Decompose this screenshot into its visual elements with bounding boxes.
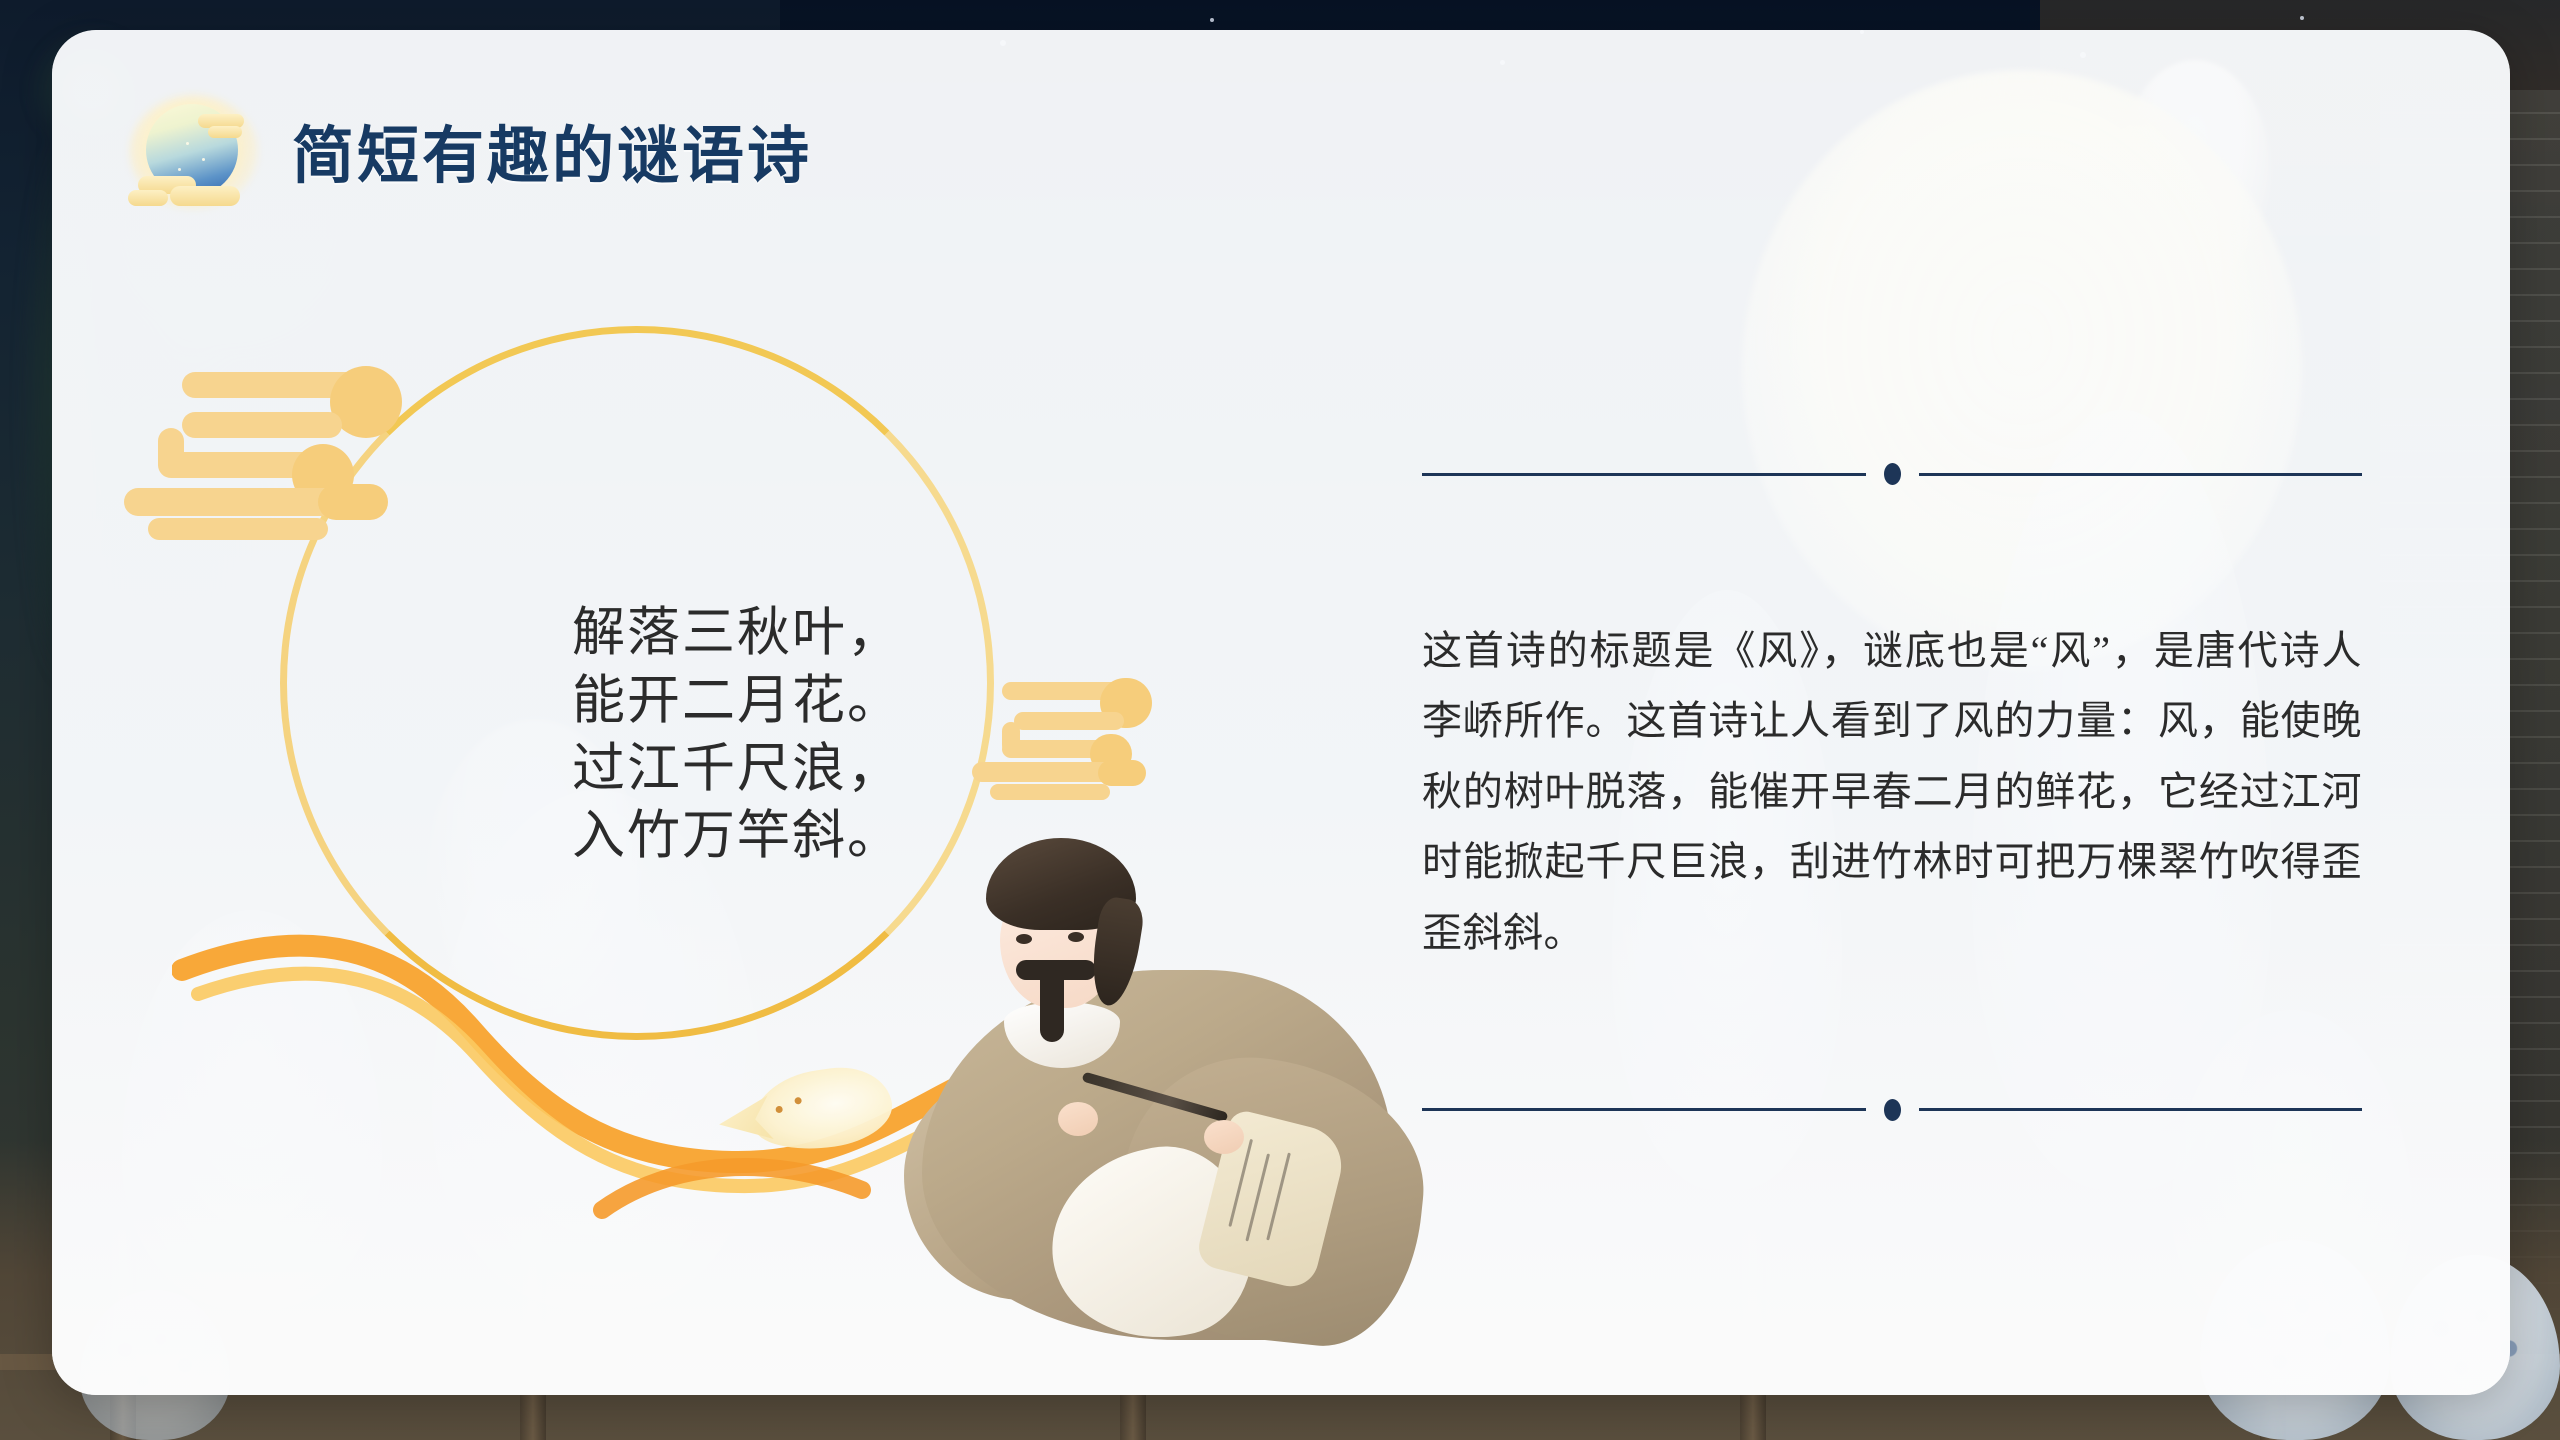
divider-line-right [1919, 1108, 2363, 1111]
slide-card: 解落三秋叶， 能开二月花。 过江千尺浪， 入竹万竿斜。 [52, 30, 2510, 1395]
tang-poet-illustration [912, 820, 1432, 1350]
explanation-text: 这首诗的标题是《风》，谜底也是“风”，是唐代诗人李峤所作。这首诗让人看到了风的力… [1422, 616, 2362, 968]
divider-top [1422, 460, 2362, 488]
divider-line-left [1422, 473, 1866, 476]
divider-line-left [1422, 1108, 1866, 1111]
moon-cloud-icon [124, 90, 264, 210]
divider-bottom [1422, 1096, 2362, 1124]
poet-beard [1040, 970, 1064, 1042]
poem-line-2: 能开二月花。 [572, 668, 952, 736]
poem-line-1: 解落三秋叶， [572, 600, 952, 668]
explanation-panel: 这首诗的标题是《风》，谜底也是“风”，是唐代诗人李峤所作。这首诗让人看到了风的力… [1422, 460, 2362, 1124]
poet-hand-left [1058, 1102, 1098, 1136]
poet-eye-right [1068, 932, 1084, 942]
poem-line-3: 过江千尺浪， [572, 736, 952, 804]
poet-hand-right [1204, 1120, 1244, 1154]
poem-line-4: 入竹万竿斜。 [572, 803, 952, 871]
poem-block: 解落三秋叶， 能开二月花。 过江千尺浪， 入竹万竿斜。 [572, 600, 952, 871]
divider-dot-icon [1884, 1099, 1901, 1121]
star-icon [1210, 18, 1214, 22]
star-icon [2300, 16, 2304, 20]
cloud-motif-right [982, 678, 1192, 808]
divider-line-right [1919, 473, 2363, 476]
poet-eye-left [1016, 934, 1032, 944]
divider-dot-icon [1884, 463, 1901, 485]
cloud-motif-left [122, 366, 422, 556]
slide-header: 简短有趣的谜语诗 [124, 90, 812, 210]
page-title: 简短有趣的谜语诗 [292, 105, 812, 195]
